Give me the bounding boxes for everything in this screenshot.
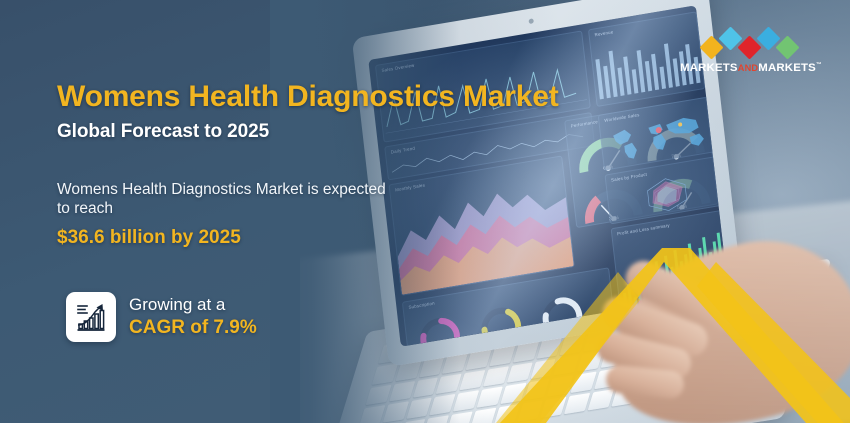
market-value-highlight: $36.6 billion by 2025 — [57, 227, 241, 249]
cagr-block: Growing at a CAGR of 7.9% — [66, 292, 257, 342]
cagr-value: CAGR of 7.9% — [129, 316, 257, 340]
logo-word-mid: AND — [738, 63, 759, 73]
marketing-banner: Sales Overview Daily Trend Monthly Sales — [0, 0, 850, 423]
marketsandmarkets-logo[interactable]: MARKETSANDMARKETS™ — [680, 28, 820, 74]
page-title: Womens Health Diagnostics Market — [57, 80, 559, 114]
logo-word-part1: MARKETS — [680, 62, 738, 74]
logo-diamonds — [691, 28, 809, 58]
trademark-symbol: ™ — [816, 62, 822, 68]
body-text: Womens Health Diagnostics Market is expe… — [57, 180, 387, 218]
logo-wordmark: MARKETSANDMARKETS™ — [680, 62, 820, 74]
logo-word-part2: MARKETS — [758, 62, 816, 74]
cagr-label: Growing at a — [129, 294, 257, 316]
page-subtitle: Global Forecast to 2025 — [57, 121, 269, 143]
growth-chart-icon — [66, 292, 116, 342]
growth-chart-icon-svg — [74, 300, 108, 334]
